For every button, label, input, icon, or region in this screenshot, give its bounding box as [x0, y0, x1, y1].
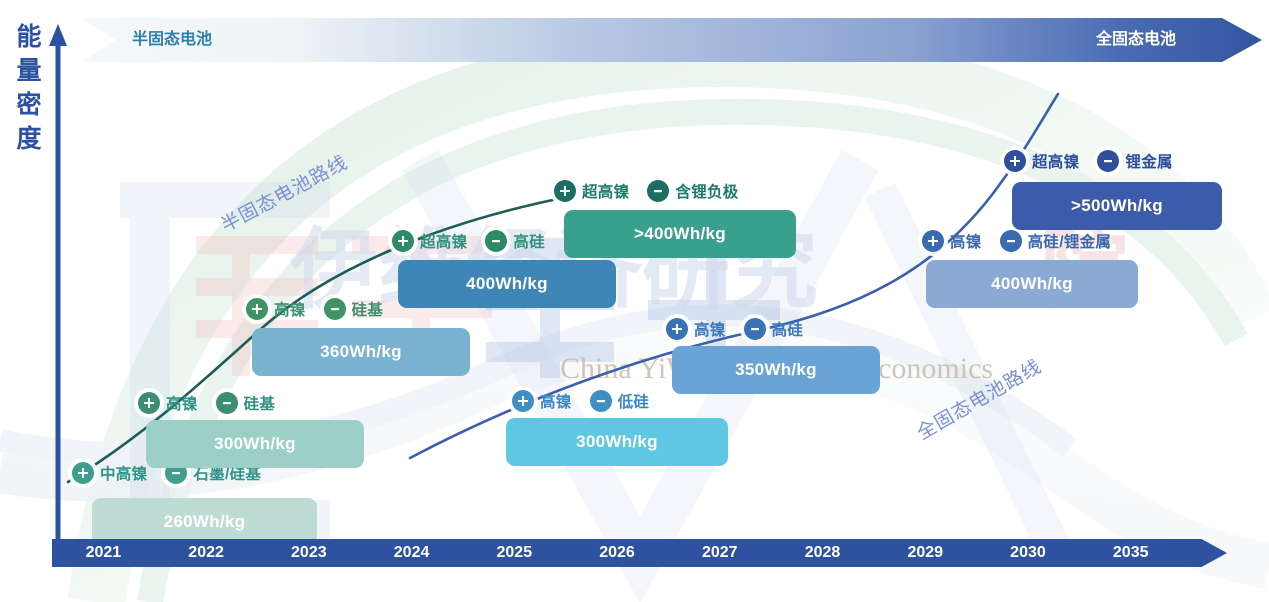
minus-circle-icon	[1000, 230, 1022, 252]
node-tags: 超高镍 高硅	[392, 230, 545, 252]
curve-label-all-solid: 全固态电池路线	[911, 352, 1046, 445]
node-tags: 超高镍 锂金属	[1004, 150, 1173, 172]
anode-label: 高硅	[772, 318, 804, 340]
y-axis-char: 密	[6, 88, 52, 122]
anode-label: 高硅	[513, 230, 545, 252]
x-tick-2027: 2027	[668, 539, 771, 567]
plus-circle-icon	[554, 180, 576, 202]
anode-tag: 高硅	[744, 318, 804, 340]
banner-label-all-solid: 全固态电池	[1096, 18, 1176, 62]
y-axis-char: 量	[6, 54, 52, 88]
energy-density-card[interactable]: >400Wh/kg	[564, 210, 796, 258]
roadmap-diagram: 伊维经济研究 China YiWei Institute of Economic…	[0, 0, 1269, 602]
node-tags: 高镍 硅基	[246, 298, 383, 320]
anode-label: 硅基	[352, 298, 384, 320]
anode-tag: 锂金属	[1097, 150, 1172, 172]
energy-density-card[interactable]: 300Wh/kg	[506, 418, 728, 466]
anode-label: 低硅	[618, 390, 650, 412]
cathode-label: 高镍	[950, 230, 982, 252]
plus-circle-icon	[392, 230, 414, 252]
anode-label: 硅基	[244, 392, 276, 414]
energy-density-card[interactable]: 300Wh/kg	[146, 420, 364, 468]
x-tick-2028: 2028	[771, 539, 874, 567]
cathode-tag: 超高镍	[554, 180, 629, 202]
plus-circle-icon	[246, 298, 268, 320]
x-tick-2026: 2026	[566, 539, 669, 567]
energy-density-card[interactable]: 360Wh/kg	[252, 328, 470, 376]
cathode-tag: 高镍	[138, 392, 198, 414]
plus-circle-icon	[138, 392, 160, 414]
anode-tag: 高硅	[485, 230, 545, 252]
plus-circle-icon	[1004, 150, 1026, 172]
cathode-tag: 超高镍	[1004, 150, 1079, 172]
energy-density-card[interactable]: >500Wh/kg	[1012, 182, 1222, 230]
node-tags: 高镍 高硅/锂金属	[922, 230, 1111, 252]
cathode-tag: 超高镍	[392, 230, 467, 252]
technology-banner: 半固态电池 全固态电池	[82, 18, 1262, 62]
x-tick-2021: 2021	[52, 539, 155, 567]
anode-tag: 低硅	[590, 390, 650, 412]
cathode-label: 超高镍	[1032, 150, 1079, 172]
energy-density-card[interactable]: 350Wh/kg	[672, 346, 880, 394]
anode-tag: 高硅/锂金属	[1000, 230, 1112, 252]
anode-tag: 硅基	[324, 298, 384, 320]
plus-circle-icon	[666, 318, 688, 340]
x-tick-2035: 2035	[1079, 539, 1182, 567]
cathode-label: 高镍	[694, 318, 726, 340]
node-tags: 高镍 高硅	[666, 318, 803, 340]
anode-label: 高硅/锂金属	[1028, 230, 1112, 252]
x-tick-2022: 2022	[155, 539, 258, 567]
cathode-label: 高镍	[166, 392, 198, 414]
minus-circle-icon	[324, 298, 346, 320]
x-tick-2025: 2025	[463, 539, 566, 567]
x-tick-2030: 2030	[977, 539, 1080, 567]
cathode-tag: 高镍	[922, 230, 982, 252]
cathode-tag: 高镍	[246, 298, 306, 320]
banner-arrow-shape	[82, 18, 1262, 62]
anode-label: 含锂负极	[675, 180, 738, 202]
cathode-label: 中高镍	[100, 462, 147, 484]
x-tick-2029: 2029	[874, 539, 977, 567]
cathode-label: 超高镍	[420, 230, 467, 252]
curve-label-semi-solid: 半固态电池路线	[216, 148, 352, 238]
anode-label: 锂金属	[1125, 150, 1172, 172]
plus-circle-icon	[922, 230, 944, 252]
anode-tag: 含锂负极	[647, 180, 738, 202]
cathode-label: 超高镍	[582, 180, 629, 202]
node-tags: 高镍 硅基	[138, 392, 275, 414]
y-axis-label: 能 量 密 度	[6, 20, 52, 156]
minus-circle-icon	[744, 318, 766, 340]
x-axis-ticks: 2021 2022 2023 2024 2025 2026 2027 2028 …	[52, 539, 1182, 567]
minus-circle-icon	[216, 392, 238, 414]
cathode-tag: 高镍	[512, 390, 572, 412]
node-tags: 超高镍 含锂负极	[554, 180, 739, 202]
plus-circle-icon	[72, 462, 94, 484]
energy-density-card[interactable]: 400Wh/kg	[926, 260, 1138, 308]
cathode-label: 高镍	[274, 298, 306, 320]
x-axis-timeline: 2021 2022 2023 2024 2025 2026 2027 2028 …	[52, 539, 1227, 567]
minus-circle-icon	[647, 180, 669, 202]
banner-label-semi-solid: 半固态电池	[132, 18, 212, 62]
cathode-tag: 中高镍	[72, 462, 147, 484]
y-axis-char: 能	[6, 20, 52, 54]
cathode-label: 高镍	[540, 390, 572, 412]
minus-circle-icon	[590, 390, 612, 412]
x-tick-2023: 2023	[257, 539, 360, 567]
x-tick-2024: 2024	[360, 539, 463, 567]
plus-circle-icon	[512, 390, 534, 412]
anode-tag: 硅基	[216, 392, 276, 414]
y-axis-char: 度	[6, 122, 52, 156]
cathode-tag: 高镍	[666, 318, 726, 340]
minus-circle-icon	[1097, 150, 1119, 172]
node-tags: 高镍 低硅	[512, 390, 649, 412]
minus-circle-icon	[485, 230, 507, 252]
energy-density-card[interactable]: 400Wh/kg	[398, 260, 616, 308]
